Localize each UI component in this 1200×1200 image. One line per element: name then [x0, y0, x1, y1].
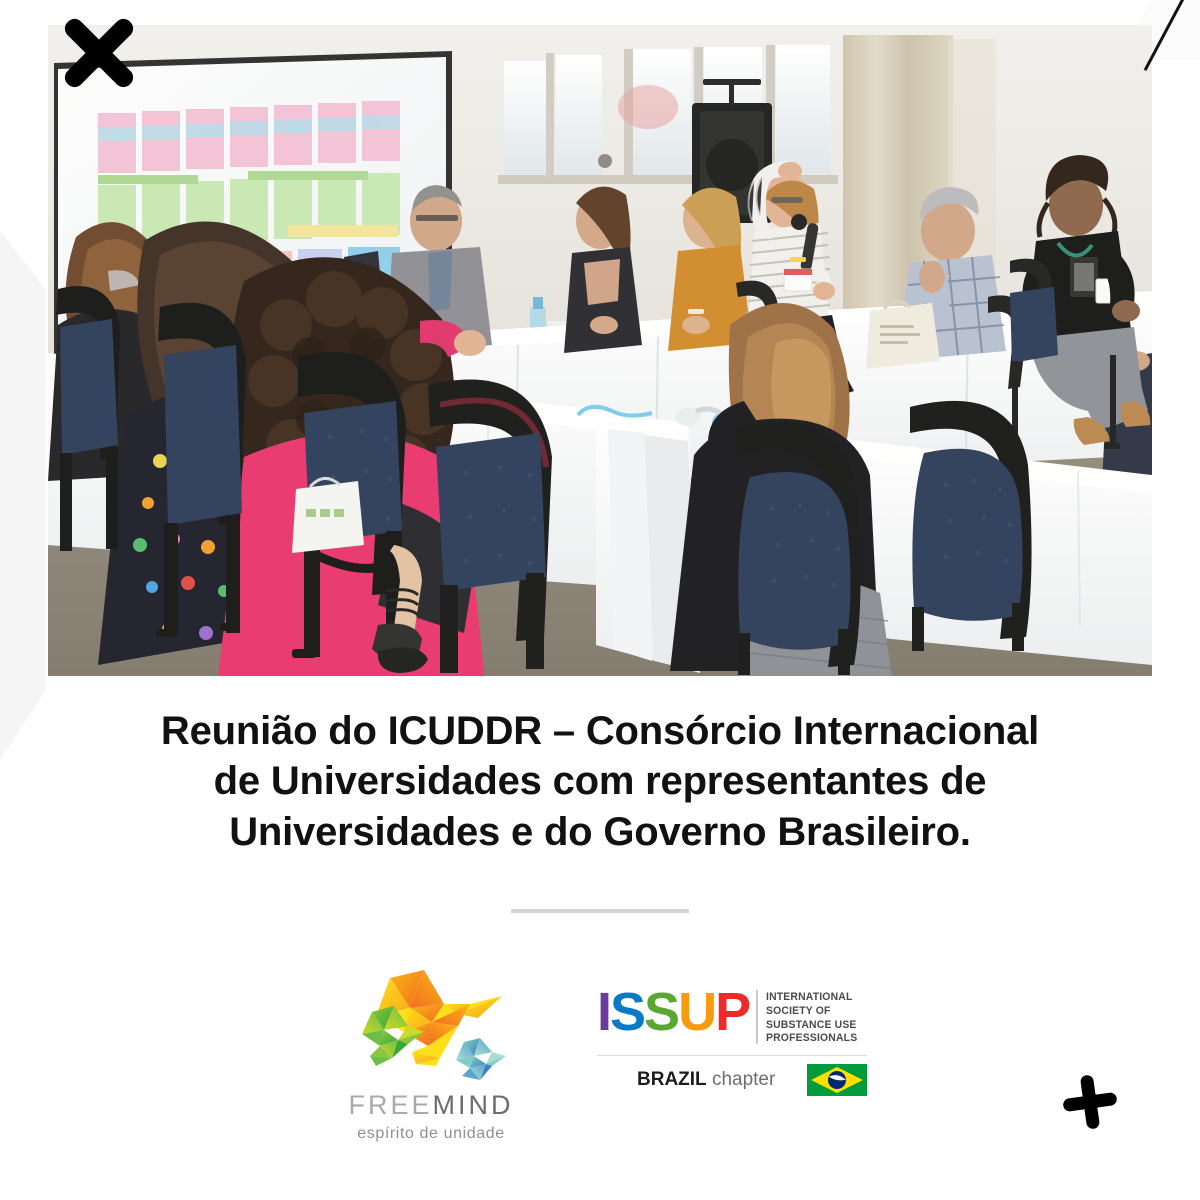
issup-chapter-word: chapter [712, 1069, 775, 1090]
freemind-wordmark: FREEMIND [336, 1090, 526, 1121]
freemind-birds-icon [336, 960, 526, 1088]
caption-line-2: de Universidades com representantes de [70, 756, 1130, 806]
logo-row: FREEMIND espírito de unidade ISSUP INTER… [0, 950, 1200, 1150]
issup-chapter-country: BRAZIL [637, 1069, 707, 1090]
freemind-word-free: FREE [348, 1090, 432, 1120]
x-mark-icon [58, 12, 140, 94]
issup-separator-bar [756, 990, 758, 1044]
issup-subtitle-line-1: INTERNATIONAL [766, 991, 857, 1005]
issup-subtitle-line-3: SUBSTANCE USE [766, 1019, 857, 1033]
conference-room-photo [48, 25, 1152, 676]
issup-brazil-chapter-logo: ISSUP INTERNATIONAL SOCIETY OF SUBSTANCE… [597, 988, 867, 1098]
brazil-flag-icon [807, 1064, 867, 1096]
issup-letter-i: I [597, 988, 610, 1038]
freemind-word-mind: MIND [433, 1090, 514, 1120]
issup-letter-s2: S [644, 988, 678, 1038]
issup-chapter-label: BRAZIL chapter [597, 1069, 775, 1091]
issup-wordmark: ISSUP [597, 988, 749, 1038]
issup-subtitle-line-4: PROFESSIONALS [766, 1032, 857, 1046]
issup-subtitle-line-2: SOCIETY OF [766, 1005, 857, 1019]
issup-letter-s1: S [610, 988, 644, 1038]
page-title: Reunião do ICUDDR – Consórcio Internacio… [70, 706, 1130, 857]
freemind-logo: FREEMIND espírito de unidade [336, 960, 526, 1150]
issup-letter-p: P [715, 988, 749, 1038]
issup-letter-u: U [678, 988, 715, 1038]
plus-mark-icon [1060, 1072, 1120, 1132]
issup-subtitle: INTERNATIONAL SOCIETY OF SUBSTANCE USE P… [766, 988, 857, 1046]
divider [511, 909, 689, 913]
issup-rule [597, 1055, 867, 1056]
caption-line-3: Universidades e do Governo Brasileiro. [70, 807, 1130, 857]
caption-line-1: Reunião do ICUDDR – Consórcio Internacio… [70, 706, 1130, 756]
freemind-tagline: espírito de unidade [336, 1125, 526, 1143]
